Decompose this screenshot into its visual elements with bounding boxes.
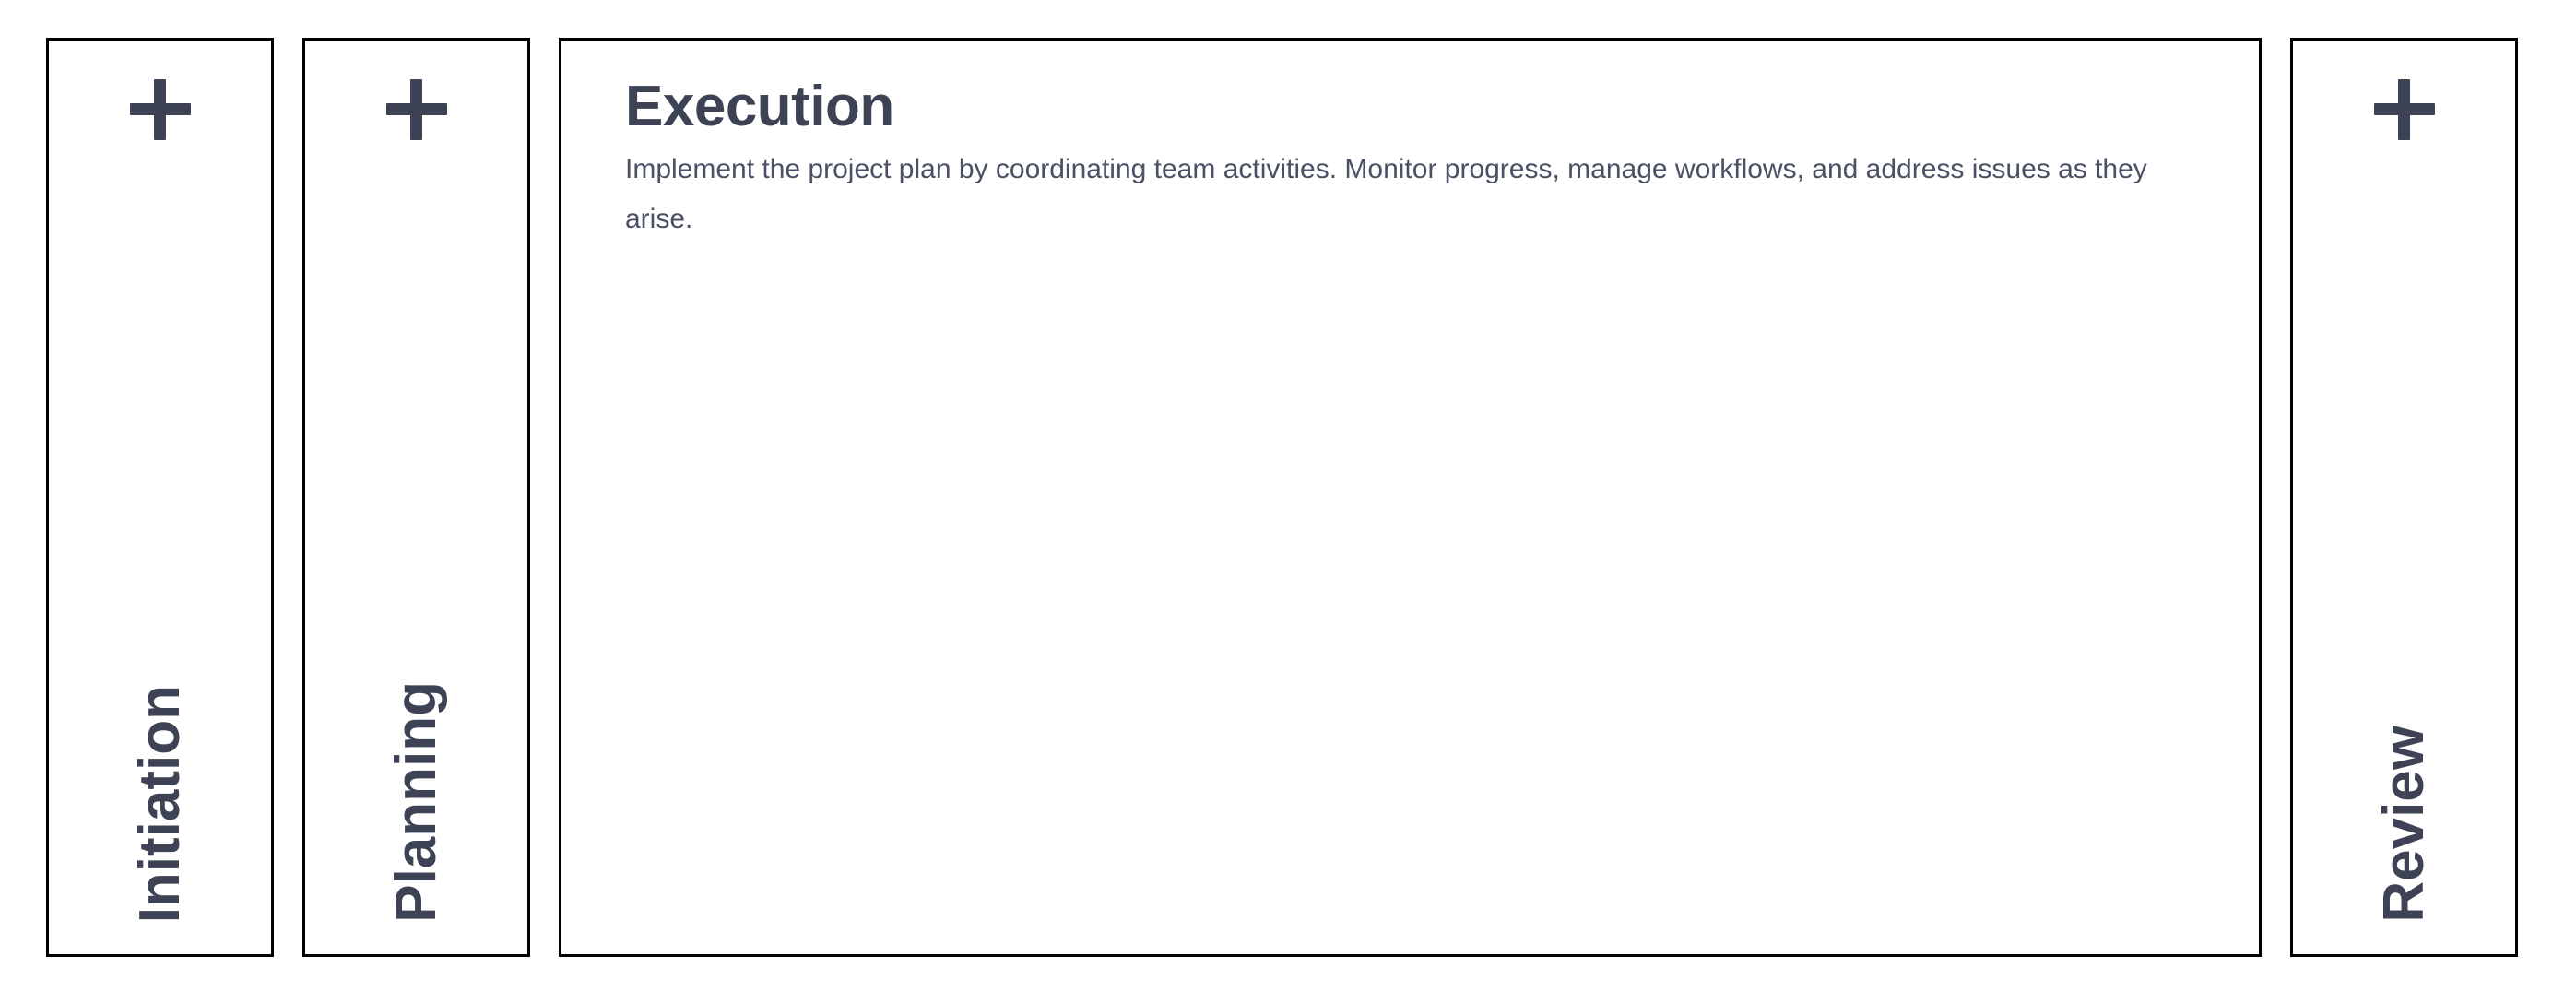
accordion-panel-label-review[interactable]: Review: [2376, 726, 2433, 923]
accordion-panel-execution[interactable]: Execution Implement the project plan by …: [559, 38, 2262, 957]
horizontal-accordion: Initiation Planning Execution Implement …: [0, 0, 2576, 1003]
accordion-panel-title-execution: Execution: [625, 74, 2194, 139]
accordion-panel-label-planning[interactable]: Planning: [388, 681, 445, 923]
vertical-label-container: Planning: [305, 140, 527, 954]
accordion-panel-initiation[interactable]: Initiation: [46, 38, 274, 957]
accordion-panel-description-execution: Implement the project plan by coordinati…: [625, 145, 2194, 244]
plus-icon[interactable]: [2374, 79, 2435, 140]
accordion-panel-planning[interactable]: Planning: [302, 38, 530, 957]
plus-icon[interactable]: [386, 79, 447, 140]
vertical-label-container: Review: [2293, 140, 2515, 954]
accordion-panel-review[interactable]: Review: [2290, 38, 2518, 957]
plus-icon[interactable]: [130, 79, 191, 140]
vertical-label-container: Initiation: [49, 140, 271, 954]
accordion-panel-label-initiation[interactable]: Initiation: [132, 685, 189, 923]
